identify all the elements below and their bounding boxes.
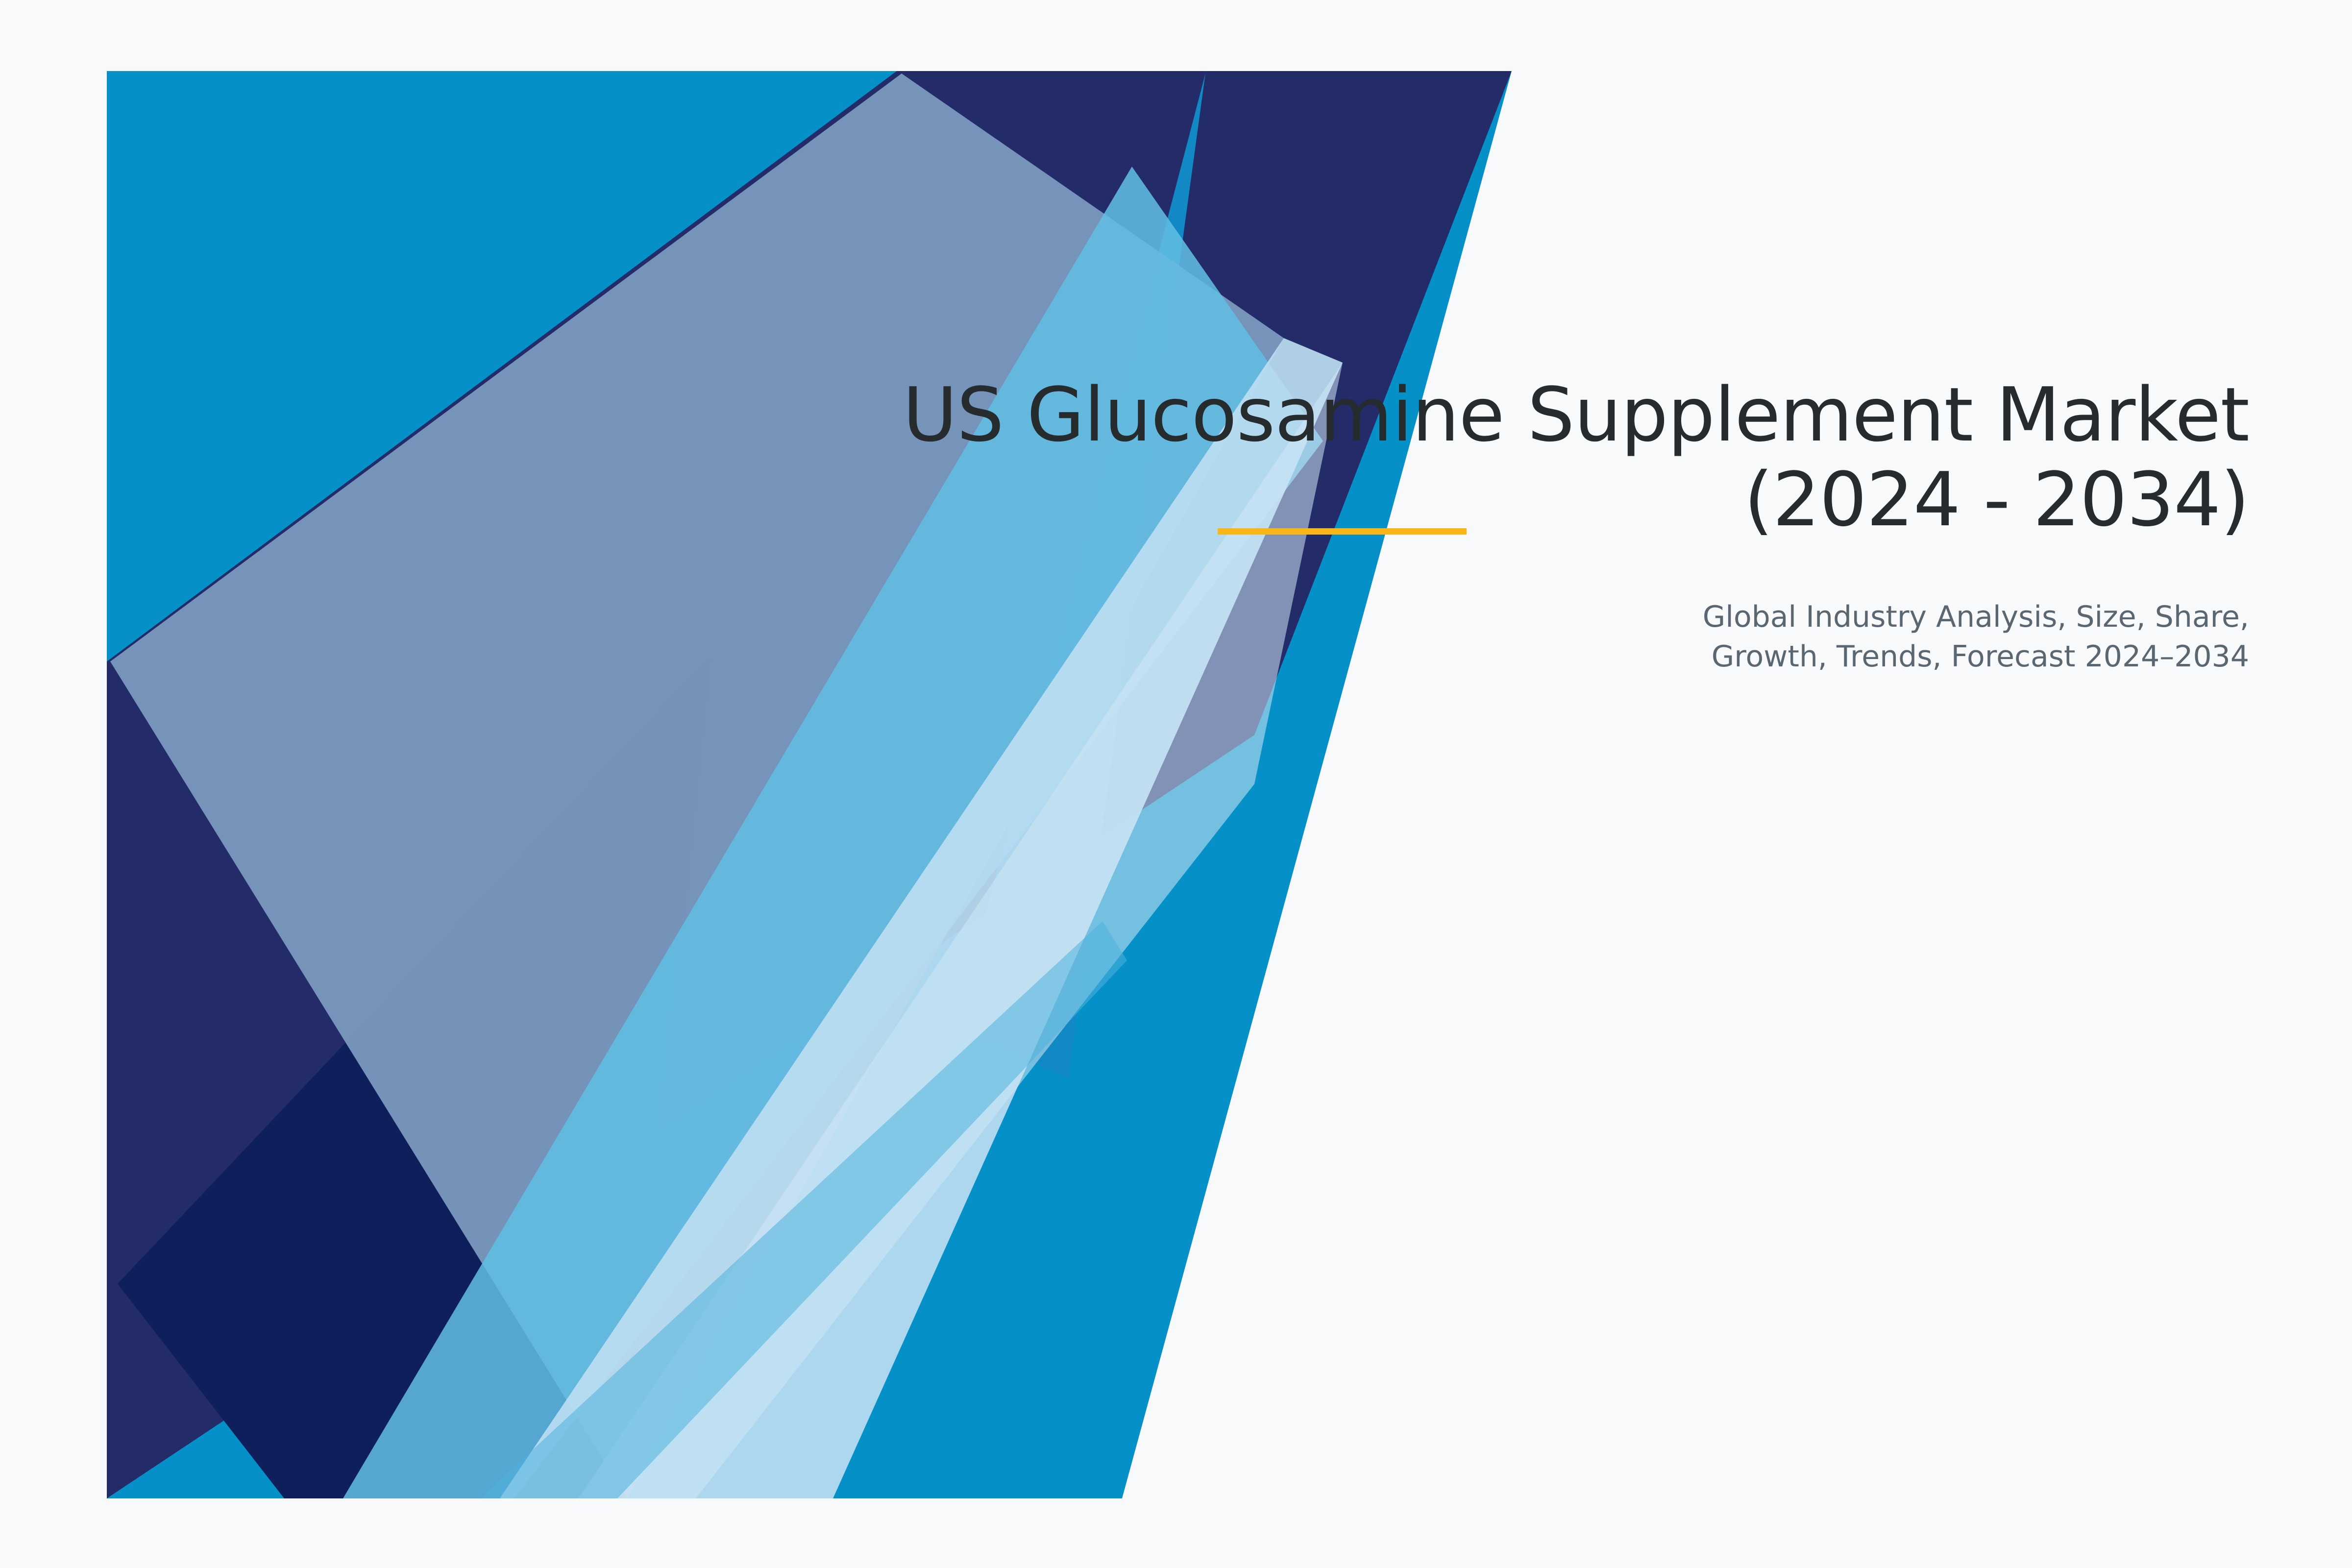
page-subtitle-line-1: Global Industry Analysis, Size, Share,	[784, 597, 2249, 637]
page-title-line-1: US Glucosamine Supplement Market	[903, 371, 2249, 458]
report-cover: US Glucosamine Supplement Market (2024 -…	[0, 0, 2352, 1568]
page-subtitle: Global Industry Analysis, Size, Share, G…	[784, 597, 2249, 677]
abstract-polygon-graphic	[0, 0, 2352, 1568]
cover-text-block: US Glucosamine Supplement Market (2024 -…	[784, 372, 2249, 677]
page-title: US Glucosamine Supplement Market (2024 -…	[784, 372, 2249, 542]
page-subtitle-line-2: Growth, Trends, Forecast 2024–2034	[784, 637, 2249, 677]
page-title-line-2: (2024 - 2034)	[784, 457, 2249, 542]
